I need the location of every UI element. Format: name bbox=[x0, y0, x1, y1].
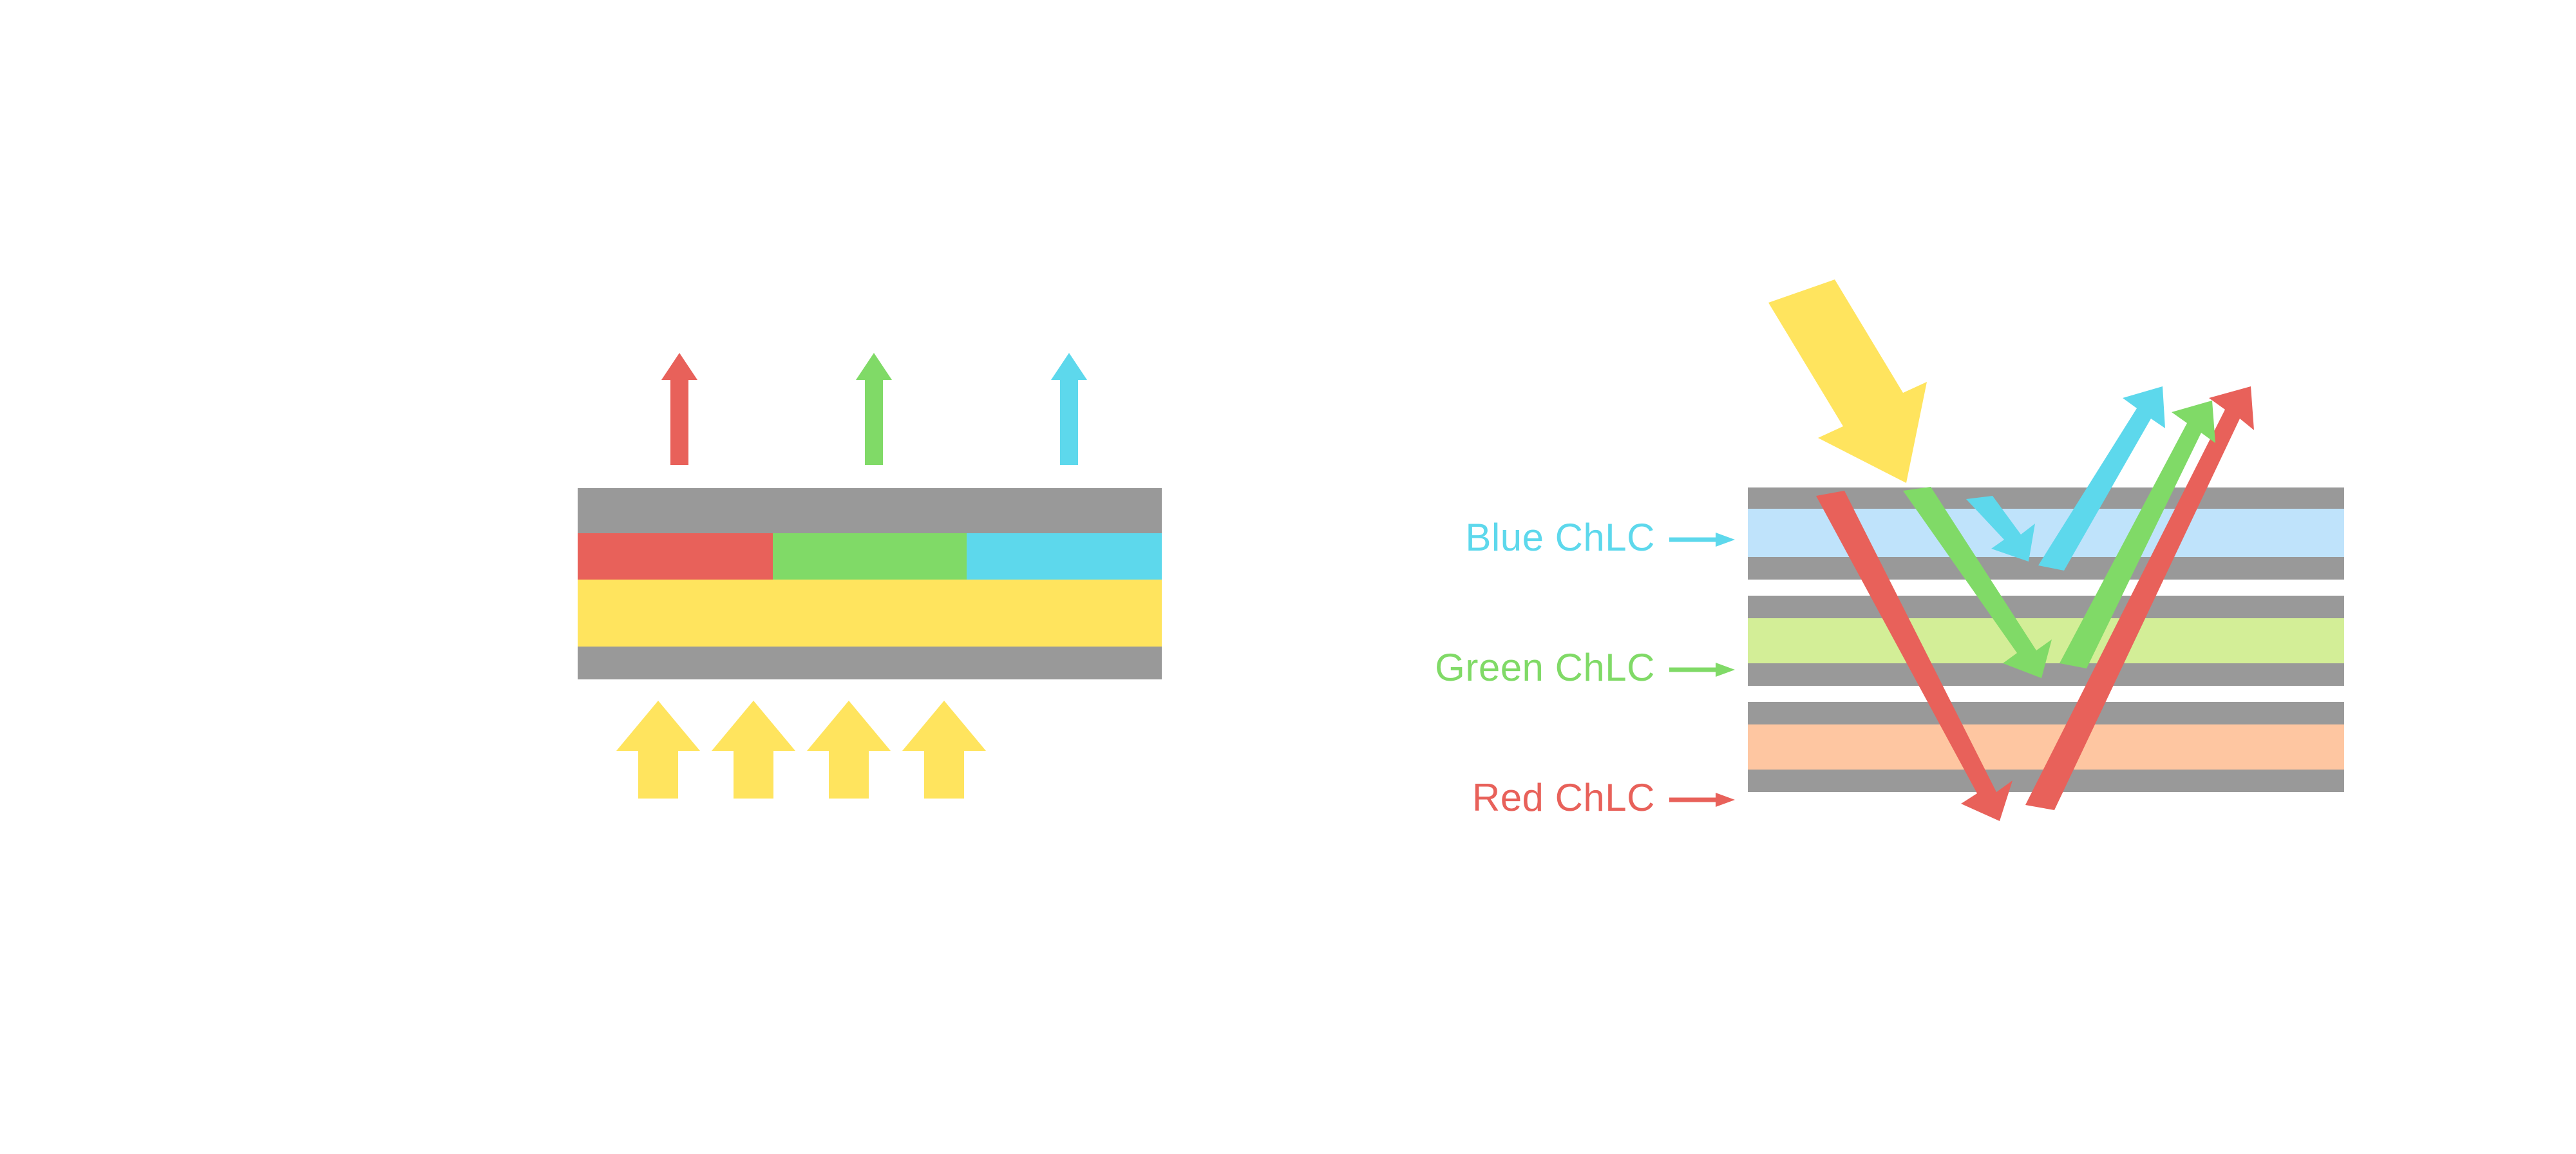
emitted-red-arrow bbox=[661, 353, 697, 465]
green-chlc-label: Green ChLC bbox=[1435, 646, 1735, 689]
red-chlc-label-arrow-icon bbox=[1669, 793, 1735, 807]
left-bottom-gray-layer bbox=[578, 647, 1162, 679]
left-yellow-backlight-layer bbox=[578, 580, 1162, 647]
right-panel-group: Blue ChLC Green ChLC Red ChLC bbox=[1435, 279, 2344, 821]
blue-chlc-label: Blue ChLC bbox=[1465, 516, 1735, 559]
red-chlc-label-text: Red ChLC bbox=[1472, 776, 1655, 819]
left-panel-group bbox=[578, 353, 1162, 799]
figure-canvas: Blue ChLC Green ChLC Red ChLC bbox=[0, 0, 2576, 1154]
green-chlc-label-text: Green ChLC bbox=[1435, 646, 1655, 689]
left-blue-filter-segment bbox=[967, 533, 1162, 580]
red-chlc-active-layer bbox=[1748, 724, 2344, 770]
left-top-gray-layer bbox=[578, 488, 1162, 533]
chlc-display-figure: Blue ChLC Green ChLC Red ChLC bbox=[0, 0, 2576, 1154]
blue-chlc-label-arrow-icon bbox=[1669, 533, 1735, 547]
backlight-arrow-1 bbox=[616, 701, 700, 799]
left-green-filter-segment bbox=[773, 533, 967, 580]
backlight-arrow-2 bbox=[712, 701, 795, 799]
red-group-top-gray bbox=[1748, 702, 2344, 724]
red-chlc-label: Red ChLC bbox=[1472, 776, 1735, 819]
blue-chlc-label-text: Blue ChLC bbox=[1465, 516, 1655, 559]
incident-white-light-arrow bbox=[1768, 279, 1927, 483]
emitted-green-arrow bbox=[856, 353, 892, 465]
backlight-arrow-3 bbox=[807, 701, 891, 799]
green-chlc-label-arrow-icon bbox=[1669, 663, 1735, 677]
green-group-top-gray bbox=[1748, 596, 2344, 618]
emitted-blue-arrow bbox=[1051, 353, 1087, 465]
green-group-bottom-gray bbox=[1748, 663, 2344, 686]
left-red-filter-segment bbox=[578, 533, 773, 580]
backlight-arrow-4 bbox=[902, 701, 986, 799]
